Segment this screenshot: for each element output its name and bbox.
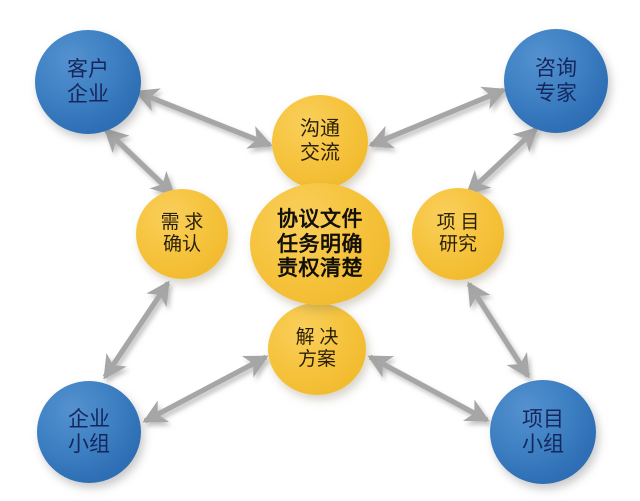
node-demand-confirmation-line-2: 确认 [163,234,201,256]
node-project-team[interactable]: 项目 小组 [490,380,596,484]
node-consulting-expert-line-2: 专家 [535,81,577,106]
node-demand-confirmation[interactable]: 需 求 确认 [136,189,228,279]
node-enterprise-team[interactable]: 企业 小组 [37,381,141,483]
node-client-enterprise-line-2: 企业 [67,82,109,107]
node-project-research-line-1: 项 目 [437,212,480,234]
node-consulting-expert-line-1: 咨询 [535,56,577,81]
node-communication-line-2: 交流 [300,142,340,166]
node-hub-agreement[interactable]: 协议文件 任务明确 责权清楚 [250,183,390,305]
node-solution[interactable]: 解 决 方案 [268,303,366,395]
node-project-team-line-2: 小组 [522,432,564,457]
node-enterprise-team-line-2: 小组 [68,432,110,457]
node-enterprise-team-line-1: 企业 [68,407,110,432]
node-project-research-line-2: 研究 [439,234,477,256]
node-communication-line-1: 沟通 [300,118,340,142]
node-hub-agreement-line-3: 责权清楚 [277,256,363,281]
node-project-team-line-1: 项目 [522,407,564,432]
node-project-research[interactable]: 项 目 研究 [412,188,504,280]
node-communication[interactable]: 沟通 交流 [272,95,368,189]
node-hub-agreement-line-1: 协议文件 [277,207,363,232]
relationship-diagram: 客户 企业 咨询 专家 企业 小组 项目 小组 沟通 交流 需 求 确认 项 目… [0,0,640,501]
node-layer: 客户 企业 咨询 专家 企业 小组 项目 小组 沟通 交流 需 求 确认 项 目… [0,0,640,501]
node-hub-agreement-line-2: 任务明确 [277,232,363,257]
node-client-enterprise[interactable]: 客户 企业 [35,30,141,134]
node-solution-line-1: 解 决 [296,327,339,349]
node-consulting-expert[interactable]: 咨询 专家 [504,29,608,133]
node-demand-confirmation-line-1: 需 求 [161,212,204,234]
node-client-enterprise-line-1: 客户 [67,57,109,82]
node-solution-line-2: 方案 [298,349,336,371]
